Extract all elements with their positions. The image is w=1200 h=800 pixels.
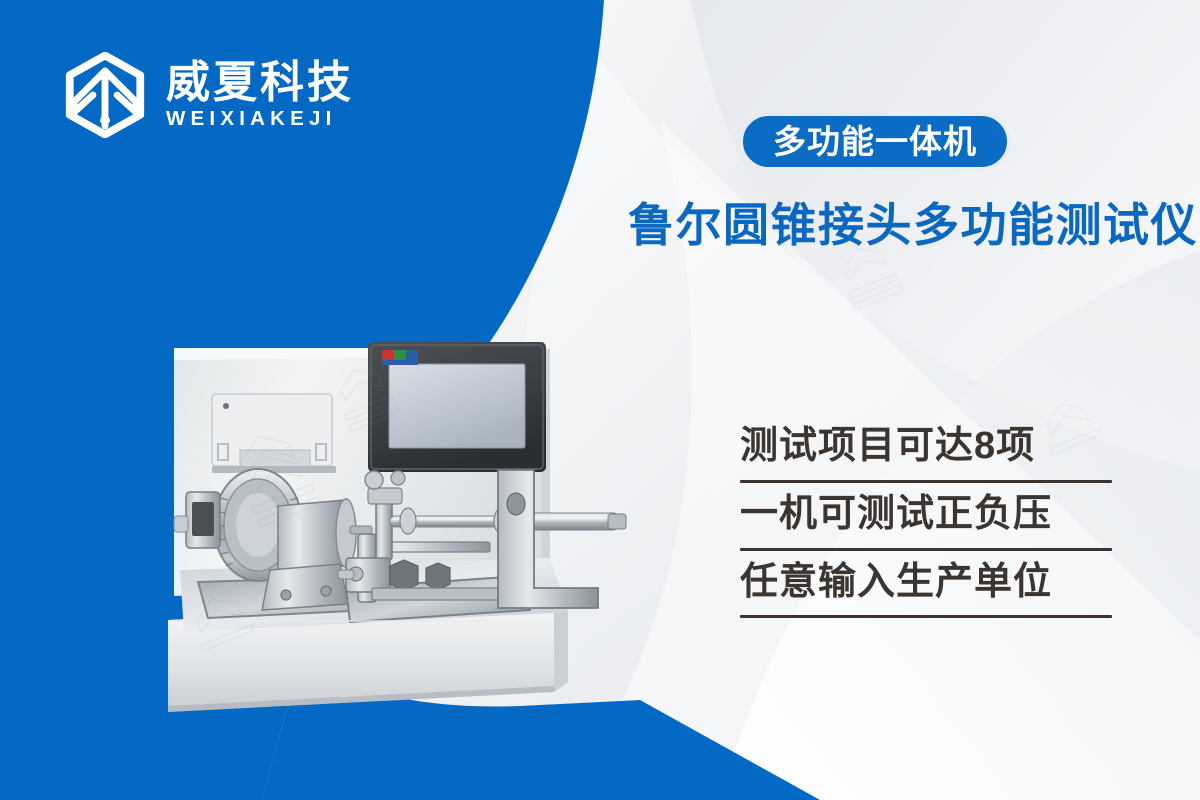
brand-logo-text: 威夏科技 WEIXIAKEJI	[166, 60, 354, 130]
product-photo: ZZ1962-D 鲁尔圆锥接头多功能测试仪	[150, 320, 710, 740]
feature-item: 测试项目可达8项	[740, 415, 1112, 483]
brand-name-cn: 威夏科技	[166, 60, 354, 106]
page-title: 鲁尔圆锥接头多功能测试仪	[628, 199, 1198, 252]
feature-label: 测试项目可达8项	[740, 415, 1112, 480]
feature-item: 任意输入生产单位	[740, 551, 1112, 618]
feature-badge: 多功能一体机	[740, 113, 1010, 170]
feature-label: 任意输入生产单位	[740, 551, 1112, 615]
product-banner: 威夏科技 WEIXIAKEJI 多功能一体机 鲁尔圆锥接头多功能测试仪 测试项目…	[0, 0, 1200, 800]
brand-name-en: WEIXIAKEJI	[166, 108, 354, 130]
feature-divider	[740, 615, 1112, 618]
hmi-touchscreen-icon[interactable]	[368, 342, 546, 472]
feature-item: 一机可测试正负压	[740, 483, 1112, 551]
feature-list: 测试项目可达8项 一机可测试正负压 任意输入生产单位	[740, 415, 1112, 618]
access-panel-icon	[212, 394, 336, 473]
hexagon-shield-arrow-logo-icon	[62, 52, 148, 138]
machine-illustration	[150, 320, 710, 740]
brand-logo: 威夏科技 WEIXIAKEJI	[62, 52, 354, 138]
feature-badge-label: 多功能一体机	[773, 125, 977, 158]
feature-label: 一机可测试正负压	[740, 483, 1112, 548]
